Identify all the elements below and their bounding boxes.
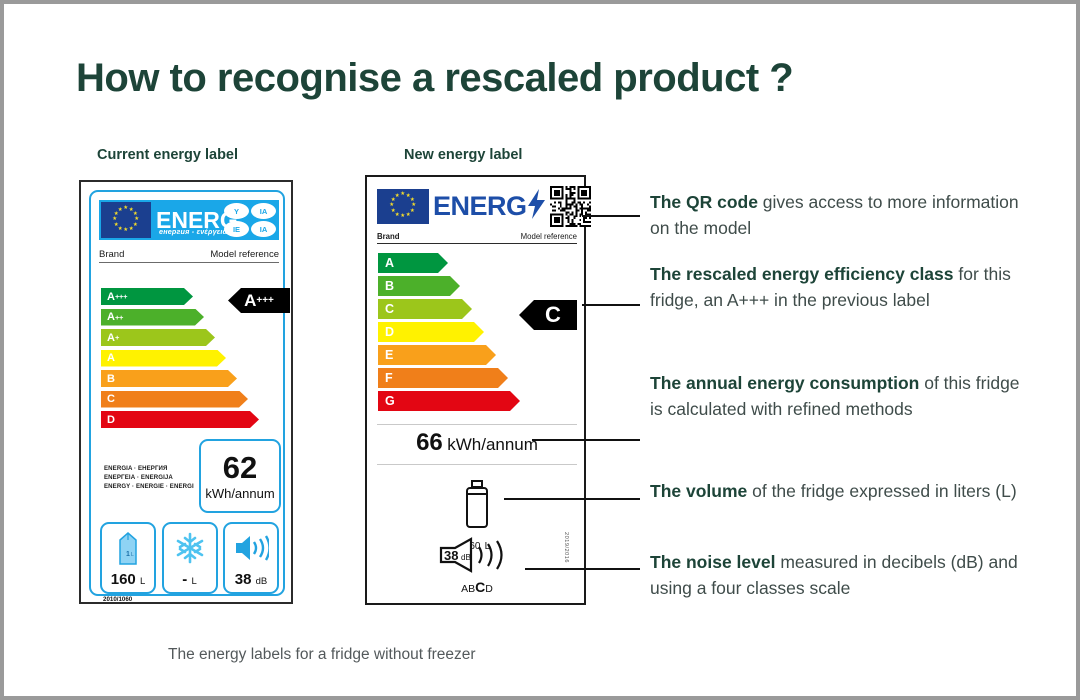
- new-consumption-value: 66: [416, 429, 443, 456]
- old-attribute-boxes: 1L160 L- L38 dB: [100, 522, 279, 594]
- divider: [377, 424, 577, 425]
- infographic-page: How to recognise a rescaled product ? Cu…: [0, 0, 1080, 700]
- annotation-lead: The annual energy consumption: [650, 373, 919, 393]
- attribute-value: 160 L: [111, 571, 146, 588]
- old-scale-bar-B: B: [101, 370, 237, 387]
- figure-caption: The energy labels for a fridge without f…: [168, 646, 476, 664]
- model-reference-label: Model reference: [210, 249, 279, 260]
- language-badge: Y: [224, 203, 249, 219]
- attribute-value: 38 dB: [235, 571, 267, 588]
- new-rated-class-badge: C: [519, 300, 577, 330]
- multilingual-line: ENERGIA · ЕНЕРГИЯ: [104, 465, 194, 474]
- connector-line-class: [582, 304, 640, 306]
- annotation-energy-class: The rescaled energy efficiency class for…: [650, 261, 1030, 313]
- new-scale-bar-B: B: [378, 276, 460, 296]
- divider: [377, 464, 577, 465]
- old-regulation-number: 2010/1060: [103, 596, 132, 603]
- new-scale-bar-A: A: [378, 253, 448, 273]
- new-efficiency-scale: ABCDEFG: [378, 253, 520, 414]
- annotation-rest: of the fridge expressed in liters (L): [747, 481, 1016, 501]
- multilingual-line: ΕΝΕΡΓΕΙΑ · ENERGIJA: [104, 474, 194, 483]
- old-label-inner-frame: ★★★★★★★★★★★★ ENERG енергия - ενέργεια YI…: [89, 190, 285, 596]
- annotation-qr-code: The QR code gives access to more informa…: [650, 189, 1030, 241]
- old-rated-class-plus: +++: [256, 295, 274, 306]
- energ-subtitle: енергия - ενέργεια: [159, 227, 227, 236]
- new-scale-bar-G: G: [378, 391, 520, 411]
- new-energy-label: ★★★★★★★★★★★★ ENERG Brand Model reference…: [365, 175, 586, 605]
- annotation-annual-consumption: The annual energy consumption of this fr…: [650, 370, 1030, 422]
- new-scale-bar-F: F: [378, 368, 508, 388]
- speaker-icon: 38 dB: [435, 537, 519, 573]
- language-badge: IE: [224, 221, 249, 237]
- brand-model-row: Brand Model reference: [377, 232, 577, 244]
- model-reference-label: Model reference: [521, 232, 577, 241]
- brand-label: Brand: [99, 249, 124, 260]
- connector-line-qr: [582, 215, 640, 217]
- snowflake-icon: [173, 524, 207, 571]
- annotation-lead: The noise level: [650, 552, 775, 572]
- attribute-value: - L: [182, 571, 196, 588]
- old-consumption-box: 62 kWh/annum: [199, 439, 281, 513]
- old-attribute-box-snowflake: - L: [162, 522, 218, 594]
- new-regulation-number: 2019/2016: [563, 532, 569, 563]
- old-consumption-value: 62: [223, 452, 257, 483]
- speaker-icon: [233, 524, 269, 571]
- new-noise-block: 38 dB ABCD: [377, 537, 577, 595]
- new-consumption-row: 66 kWh/annum: [377, 429, 577, 457]
- brand-label: Brand: [377, 232, 400, 241]
- bottle-icon: [459, 479, 495, 529]
- noise-class-scale: ABCD: [377, 579, 577, 595]
- new-scale-bar-D: D: [378, 322, 484, 342]
- new-consumption-unit: kWh/annum: [447, 435, 538, 454]
- annotation-volume: The volume of the fridge expressed in li…: [650, 478, 1030, 504]
- qr-code-icon[interactable]: [550, 186, 591, 227]
- old-attribute-box-milk-carton: 1L160 L: [100, 522, 156, 594]
- old-efficiency-scale: A+++A++A+ABCD: [101, 288, 259, 432]
- annotation-noise-level: The noise level measured in decibels (dB…: [650, 549, 1030, 601]
- old-rated-class-letter: A: [244, 291, 256, 311]
- multilingual-line: ENERGY · ENERGIE · ENERGI: [104, 483, 194, 492]
- new-scale-bar-E: E: [378, 345, 496, 365]
- language-badge: IA: [251, 203, 276, 219]
- milk-carton-icon: 1L: [117, 524, 139, 571]
- old-scale-bar-C: C: [101, 391, 248, 408]
- old-scale-bar-D: D: [101, 411, 259, 428]
- connector-line-consumption: [532, 439, 640, 441]
- svg-text:dB: dB: [461, 553, 471, 562]
- annotation-lead: The rescaled energy efficiency class: [650, 264, 954, 284]
- connector-line-volume: [504, 498, 640, 500]
- new-label-header: ★★★★★★★★★★★★ ENERG: [377, 185, 577, 227]
- old-scale-bar-Ap: A+: [101, 329, 215, 346]
- old-rated-class-badge: A+++: [228, 288, 290, 313]
- new-scale-bar-C: C: [378, 299, 472, 319]
- new-label-heading: New energy label: [404, 147, 522, 163]
- energ-wordmark: ENERG: [433, 191, 527, 222]
- old-label-header: ★★★★★★★★★★★★ ENERG енергия - ενέργεια YI…: [99, 200, 279, 240]
- eu-flag-icon: ★★★★★★★★★★★★: [377, 189, 429, 224]
- brand-model-row: Brand Model reference: [99, 249, 279, 263]
- annotation-lead: The QR code: [650, 192, 758, 212]
- svg-text:1: 1: [126, 551, 130, 558]
- language-badges: YIAIEIA: [224, 203, 276, 237]
- old-scale-bar-App: A++: [101, 309, 204, 326]
- svg-text:L: L: [131, 552, 134, 558]
- lightning-bolt-icon: [528, 189, 545, 224]
- connector-line-noise: [525, 568, 640, 570]
- current-energy-label: ★★★★★★★★★★★★ ENERG енергия - ενέργεια YI…: [79, 180, 293, 604]
- eu-flag-icon: ★★★★★★★★★★★★: [101, 202, 151, 238]
- old-scale-bar-Appp: A+++: [101, 288, 193, 305]
- page-title: How to recognise a rescaled product ?: [76, 56, 793, 101]
- annotation-lead: The volume: [650, 481, 747, 501]
- old-label-heading: Current energy label: [97, 147, 238, 163]
- old-consumption-unit: kWh/annum: [205, 486, 274, 501]
- old-scale-bar-A: A: [101, 350, 226, 367]
- multilingual-energy-text: ENERGIA · ЕНЕРГИЯΕΝΕΡΓΕΙΑ · ENERGIJAENER…: [104, 465, 194, 491]
- old-attribute-box-speaker: 38 dB: [223, 522, 279, 594]
- language-badge: IA: [251, 221, 276, 237]
- svg-text:38: 38: [444, 548, 458, 563]
